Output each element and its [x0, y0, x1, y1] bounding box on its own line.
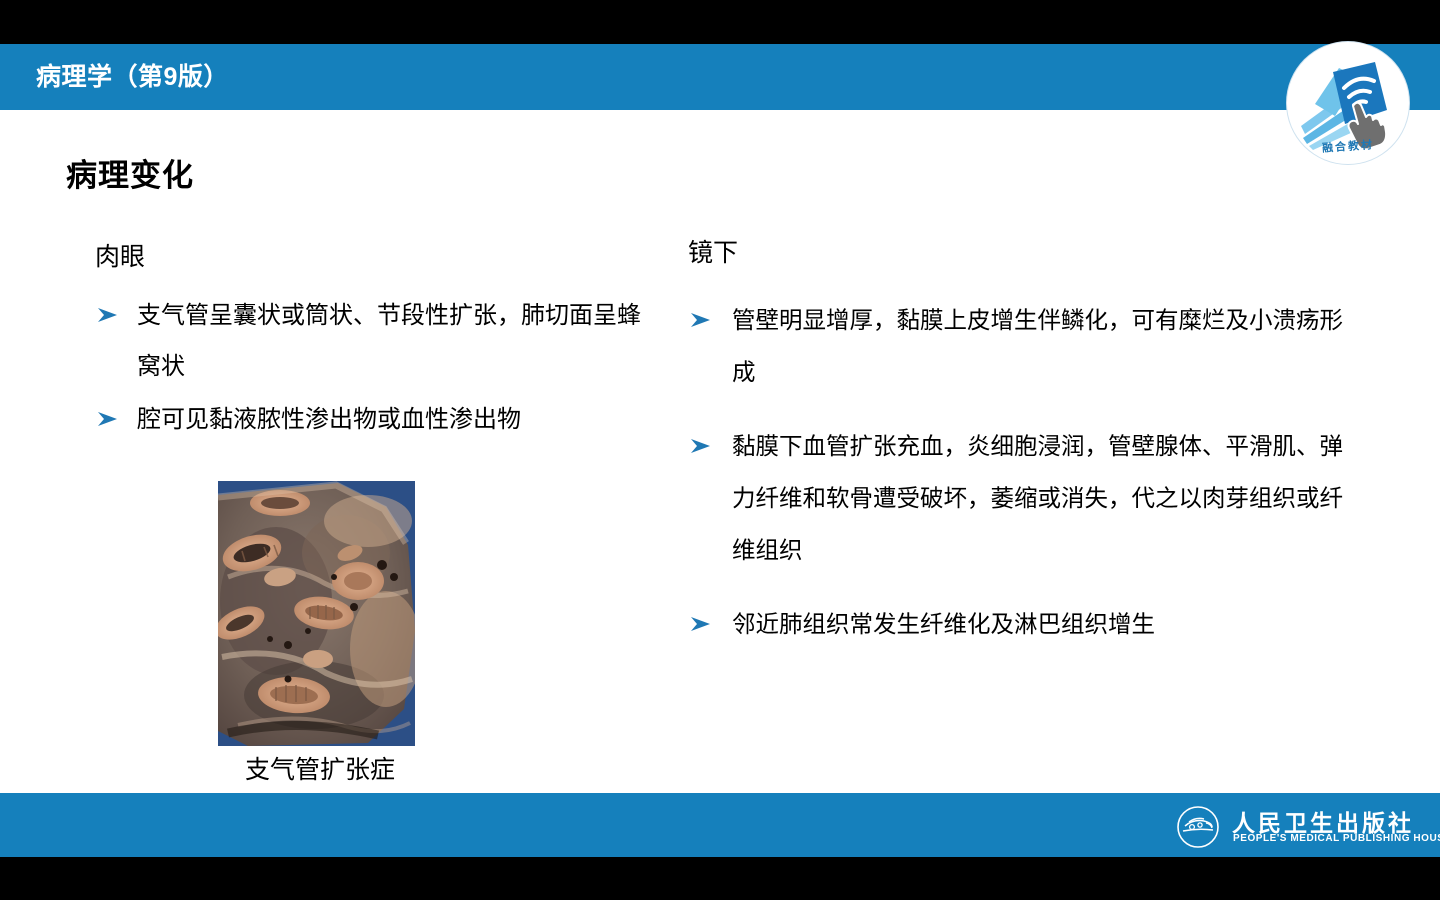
- publisher-logo: 人民卫生出版社 PEOPLE'S MEDICAL PUBLISHING HOUS…: [1176, 803, 1420, 851]
- list-item: 邻近肺组织常发生纤维化及淋巴组织增生: [688, 598, 1358, 650]
- arrowhead-right-icon: [690, 598, 718, 632]
- column-header-microscopic: 镜下: [688, 236, 1358, 270]
- arrowhead-right-icon: [97, 290, 125, 323]
- column-gross: 肉眼 支气管呈囊状或筒状、节段性扩张，肺切面呈蜂窝状 腔可见黏液脓性渗出物或血性…: [95, 240, 655, 447]
- column-microscopic: 镜下 管壁明显增厚，黏膜上皮增生伴鳞化，可有糜烂及小溃疡形成 黏膜下血管扩张充血…: [688, 236, 1358, 672]
- arrowhead-right-icon: [97, 394, 125, 427]
- list-item-text: 支气管呈囊状或筒状、节段性扩张，肺切面呈蜂窝状: [137, 302, 641, 380]
- bullet-list-gross: 支气管呈囊状或筒状、节段性扩张，肺切面呈蜂窝状 腔可见黏液脓性渗出物或血性渗出物: [95, 290, 655, 445]
- list-item-text: 黏膜下血管扩张充血，炎细胞浸润，管壁腺体、平滑肌、弹力纤维和软骨遭受破坏，萎缩或…: [732, 433, 1343, 563]
- list-item-text: 腔可见黏液脓性渗出物或血性渗出物: [137, 406, 521, 433]
- figure-caption: 支气管扩张症: [130, 753, 510, 787]
- publisher-emblem-icon: [1176, 805, 1220, 849]
- list-item-text: 管壁明显增厚，黏膜上皮增生伴鳞化，可有糜烂及小溃疡形成: [732, 307, 1343, 385]
- slide-root: 病理学（第9版） 融合教材: [0, 0, 1440, 900]
- page-title: 病理变化: [66, 155, 194, 197]
- list-item: 支气管呈囊状或筒状、节段性扩张，肺切面呈蜂窝状: [95, 290, 655, 392]
- publisher-name-en: PEOPLE'S MEDICAL PUBLISHING HOUSE: [1233, 833, 1440, 844]
- specimen-photo: [218, 481, 415, 746]
- lung-cut-surface-image: [218, 481, 415, 746]
- fusion-textbook-badge: 融合教材: [1287, 42, 1409, 164]
- arrowhead-right-icon: [690, 420, 718, 454]
- list-item-text: 邻近肺组织常发生纤维化及淋巴组织增生: [732, 611, 1155, 637]
- arrowhead-right-icon: [690, 294, 718, 328]
- bullet-list-microscopic: 管壁明显增厚，黏膜上皮增生伴鳞化，可有糜烂及小溃疡形成 黏膜下血管扩张充血，炎细…: [688, 294, 1358, 650]
- figure-gross-specimen: [218, 481, 415, 746]
- list-item: 腔可见黏液脓性渗出物或血性渗出物: [95, 394, 655, 445]
- list-item: 黏膜下血管扩张充血，炎细胞浸润，管壁腺体、平滑肌、弹力纤维和软骨遭受破坏，萎缩或…: [688, 420, 1358, 576]
- header-title: 病理学（第9版）: [36, 58, 229, 96]
- column-header-gross: 肉眼: [95, 240, 655, 274]
- list-item: 管壁明显增厚，黏膜上皮增生伴鳞化，可有糜烂及小溃疡形成: [688, 294, 1358, 398]
